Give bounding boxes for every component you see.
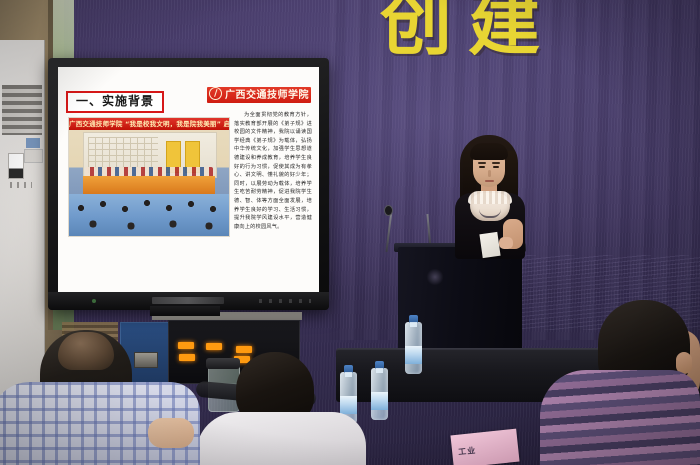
presenter-lace-ruffle xyxy=(468,191,512,204)
presenter-nose xyxy=(488,170,491,177)
photo-student-crowd xyxy=(69,194,229,236)
ac-sticker xyxy=(24,149,43,163)
bottle-neck xyxy=(345,372,352,377)
bottle-neck xyxy=(376,368,383,373)
bottle-neck xyxy=(410,322,417,327)
monitor-control-buttons[interactable] xyxy=(259,299,311,303)
presenter-eye-left xyxy=(479,166,485,168)
audience-member-left-scalp xyxy=(58,332,114,370)
photo-head-table xyxy=(83,176,215,194)
monitor-screen: 一、实施背景 广西交通技师学院 广西交通技师学院 “我是校我文明，我是院我美丽”… xyxy=(58,67,319,292)
monitor-brand-logo xyxy=(152,297,224,304)
slide-body-text: 为全面贯彻党的教育方针，落实教育部开展的《弟子规》进校园的文件精神，我院以诵读国… xyxy=(234,111,312,241)
ac-vent-grille xyxy=(2,85,42,135)
rack-led-indicator xyxy=(179,354,195,361)
rack-led-indicator xyxy=(206,343,222,350)
monitor-stand xyxy=(150,306,220,316)
presenter-fringe xyxy=(470,143,508,160)
photo-event-banner: 广西交通技师学院 “我是校我文明，我是院我美丽” 启动仪式 xyxy=(69,118,229,130)
audience-member-left-hand xyxy=(148,418,194,448)
screenshot-root: 创建 一、实施背景 广西交通技师学院 广西交通技师学院 “我是校我文明，我是院我… xyxy=(0,0,700,465)
audience-member-right-shirt xyxy=(540,370,700,465)
monitor-power-led-icon xyxy=(92,299,96,303)
presenter xyxy=(443,133,535,261)
slide-photo: 广西交通技师学院 “我是校我文明，我是院我美丽” 启动仪式 xyxy=(68,117,230,237)
school-logo-text: 广西交通技师学院 xyxy=(225,90,309,101)
tea-jar-lid xyxy=(206,358,240,369)
presenter-mouth xyxy=(485,180,494,182)
bottle-label xyxy=(405,346,422,364)
water-bottle xyxy=(405,322,422,374)
water-bottle xyxy=(371,368,388,420)
rack-led-indicator xyxy=(178,342,194,349)
bottle-label xyxy=(371,392,388,410)
ac-badge xyxy=(26,138,40,148)
audience-member-center-body xyxy=(196,412,366,465)
presenter-speech-card xyxy=(479,232,500,258)
school-logo-banner: 广西交通技师学院 xyxy=(207,87,311,103)
presentation-slide: 一、实施背景 广西交通技师学院 广西交通技师学院 “我是校我文明，我是院我美丽”… xyxy=(58,67,319,292)
name-placard-text: 工业 xyxy=(458,441,515,458)
slide-section-title: 一、实施背景 xyxy=(66,91,164,113)
presenter-eyebrow-right xyxy=(492,162,500,164)
presenter-eye-right xyxy=(493,166,499,168)
presentation-monitor: 一、实施背景 广西交通技师学院 广西交通技师学院 “我是校我文明，我是院我美丽”… xyxy=(48,58,329,310)
microphone-head-icon xyxy=(384,205,393,216)
rack-led-indicator xyxy=(236,346,252,353)
podium-emblem xyxy=(418,262,452,292)
banner-headline: 创建 xyxy=(380,0,700,56)
school-emblem-icon xyxy=(209,87,222,100)
presenter-eyebrow-left xyxy=(478,162,486,164)
name-placard: 工业 xyxy=(450,429,519,465)
ac-button-row xyxy=(10,182,32,188)
case-latch-plate xyxy=(134,352,158,368)
bottle-label xyxy=(340,396,357,414)
slide-body-paragraph: 为全面贯彻党的教育方针，落实教育部开展的《弟子规》进校园的文件精神，我院以诵读国… xyxy=(234,111,312,231)
presenter-hand xyxy=(499,237,513,249)
ac-display-panel xyxy=(8,153,24,179)
